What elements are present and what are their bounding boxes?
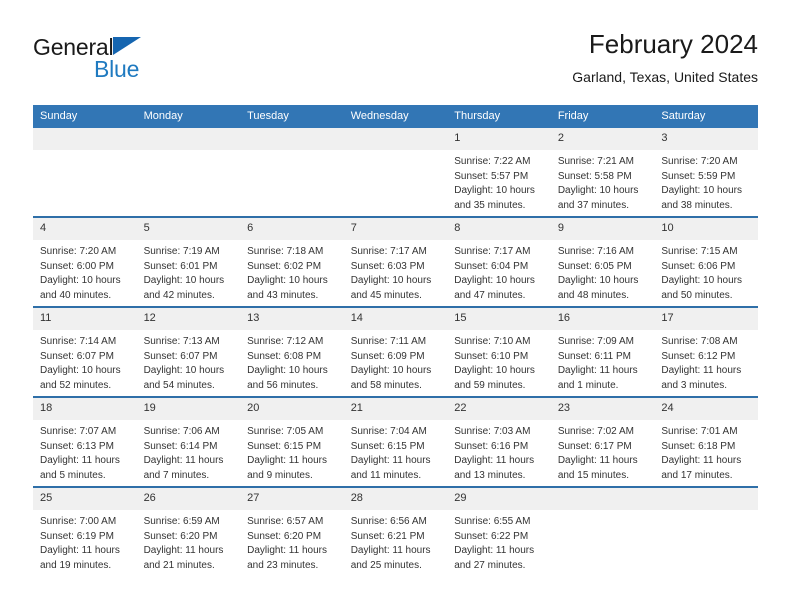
day-number: 1 — [447, 128, 551, 150]
sunrise-time: Sunrise: 6:55 AM — [454, 515, 545, 530]
daylight-duration-line-1: Daylight: 10 hours — [351, 274, 442, 289]
daylight-duration-line-1: Daylight: 10 hours — [454, 364, 545, 379]
sunset-time: Sunset: 5:59 PM — [661, 170, 752, 185]
day-details: Sunrise: 7:18 AMSunset: 6:02 PMDaylight:… — [240, 240, 344, 303]
daylight-duration-line-2: and 43 minutes. — [247, 289, 338, 304]
sunrise-time: Sunrise: 7:03 AM — [454, 425, 545, 440]
calendar-day-cell[interactable]: 5Sunrise: 7:19 AMSunset: 6:01 PMDaylight… — [137, 217, 241, 307]
day-number: 19 — [137, 398, 241, 420]
calendar-week-row: 11Sunrise: 7:14 AMSunset: 6:07 PMDayligh… — [33, 307, 758, 397]
calendar-day-cell[interactable]: 14Sunrise: 7:11 AMSunset: 6:09 PMDayligh… — [344, 307, 448, 397]
day-details: Sunrise: 6:56 AMSunset: 6:21 PMDaylight:… — [344, 510, 448, 573]
weekday-header-friday: Friday — [551, 105, 655, 128]
day-number: 6 — [240, 218, 344, 240]
day-number: 20 — [240, 398, 344, 420]
day-number: 10 — [654, 218, 758, 240]
daylight-duration-line-2: and 52 minutes. — [40, 379, 131, 394]
day-details — [654, 510, 758, 515]
daylight-duration-line-1: Daylight: 11 hours — [454, 544, 545, 559]
day-details — [344, 150, 448, 155]
sunrise-time: Sunrise: 7:09 AM — [558, 335, 649, 350]
weekday-header-saturday: Saturday — [654, 105, 758, 128]
calendar-day-cell[interactable]: 13Sunrise: 7:12 AMSunset: 6:08 PMDayligh… — [240, 307, 344, 397]
daylight-duration-line-2: and 1 minute. — [558, 379, 649, 394]
calendar-day-cell-empty — [344, 128, 448, 217]
sunset-time: Sunset: 6:07 PM — [40, 350, 131, 365]
daylight-duration-line-1: Daylight: 11 hours — [558, 364, 649, 379]
day-details: Sunrise: 7:16 AMSunset: 6:05 PMDaylight:… — [551, 240, 655, 303]
day-number: 13 — [240, 308, 344, 330]
daylight-duration-line-2: and 25 minutes. — [351, 559, 442, 574]
day-number: 21 — [344, 398, 448, 420]
daylight-duration-line-1: Daylight: 10 hours — [558, 184, 649, 199]
calendar-day-cell[interactable]: 6Sunrise: 7:18 AMSunset: 6:02 PMDaylight… — [240, 217, 344, 307]
day-details: Sunrise: 7:19 AMSunset: 6:01 PMDaylight:… — [137, 240, 241, 303]
sunset-time: Sunset: 6:02 PM — [247, 260, 338, 275]
daylight-duration-line-2: and 7 minutes. — [144, 469, 235, 484]
sunrise-time: Sunrise: 7:05 AM — [247, 425, 338, 440]
day-details: Sunrise: 7:17 AMSunset: 6:04 PMDaylight:… — [447, 240, 551, 303]
daylight-duration-line-1: Daylight: 11 hours — [661, 364, 752, 379]
day-details: Sunrise: 7:20 AMSunset: 5:59 PMDaylight:… — [654, 150, 758, 213]
calendar-day-cell[interactable]: 18Sunrise: 7:07 AMSunset: 6:13 PMDayligh… — [33, 397, 137, 487]
day-details: Sunrise: 7:20 AMSunset: 6:00 PMDaylight:… — [33, 240, 137, 303]
logo-text-blue: Blue — [94, 56, 139, 82]
day-number — [33, 128, 137, 150]
day-number: 17 — [654, 308, 758, 330]
sunrise-time: Sunrise: 6:57 AM — [247, 515, 338, 530]
weekday-header-row: Sunday Monday Tuesday Wednesday Thursday… — [33, 105, 758, 128]
daylight-duration-line-1: Daylight: 10 hours — [351, 364, 442, 379]
daylight-duration-line-1: Daylight: 11 hours — [144, 454, 235, 469]
calendar-day-cell[interactable]: 29Sunrise: 6:55 AMSunset: 6:22 PMDayligh… — [447, 487, 551, 576]
calendar-day-cell[interactable]: 26Sunrise: 6:59 AMSunset: 6:20 PMDayligh… — [137, 487, 241, 576]
calendar-day-cell-empty — [654, 487, 758, 576]
day-details: Sunrise: 7:03 AMSunset: 6:16 PMDaylight:… — [447, 420, 551, 483]
day-number: 23 — [551, 398, 655, 420]
daylight-duration-line-1: Daylight: 11 hours — [351, 454, 442, 469]
sunrise-sunset-calendar-table: Sunday Monday Tuesday Wednesday Thursday… — [33, 105, 758, 576]
day-details: Sunrise: 7:07 AMSunset: 6:13 PMDaylight:… — [33, 420, 137, 483]
day-details: Sunrise: 7:01 AMSunset: 6:18 PMDaylight:… — [654, 420, 758, 483]
calendar-day-cell[interactable]: 27Sunrise: 6:57 AMSunset: 6:20 PMDayligh… — [240, 487, 344, 576]
day-details: Sunrise: 7:04 AMSunset: 6:15 PMDaylight:… — [344, 420, 448, 483]
daylight-duration-line-2: and 19 minutes. — [40, 559, 131, 574]
sunset-time: Sunset: 6:04 PM — [454, 260, 545, 275]
calendar-day-cell[interactable]: 4Sunrise: 7:20 AMSunset: 6:00 PMDaylight… — [33, 217, 137, 307]
weekday-header-wednesday: Wednesday — [344, 105, 448, 128]
daylight-duration-line-2: and 58 minutes. — [351, 379, 442, 394]
calendar-day-cell[interactable]: 17Sunrise: 7:08 AMSunset: 6:12 PMDayligh… — [654, 307, 758, 397]
sunrise-time: Sunrise: 7:17 AM — [351, 245, 442, 260]
daylight-duration-line-2: and 42 minutes. — [144, 289, 235, 304]
calendar-page: General Blue February 2024 Garland, Texa… — [0, 0, 792, 612]
calendar-day-cell[interactable]: 10Sunrise: 7:15 AMSunset: 6:06 PMDayligh… — [654, 217, 758, 307]
calendar-day-cell-empty — [240, 128, 344, 217]
sunset-time: Sunset: 5:58 PM — [558, 170, 649, 185]
day-details: Sunrise: 7:00 AMSunset: 6:19 PMDaylight:… — [33, 510, 137, 573]
sunrise-time: Sunrise: 7:20 AM — [40, 245, 131, 260]
daylight-duration-line-2: and 11 minutes. — [351, 469, 442, 484]
daylight-duration-line-2: and 17 minutes. — [661, 469, 752, 484]
sunrise-time: Sunrise: 7:11 AM — [351, 335, 442, 350]
sunset-time: Sunset: 6:07 PM — [144, 350, 235, 365]
calendar-day-cell-empty — [33, 128, 137, 217]
day-number: 8 — [447, 218, 551, 240]
sunset-time: Sunset: 6:20 PM — [144, 530, 235, 545]
daylight-duration-line-2: and 5 minutes. — [40, 469, 131, 484]
daylight-duration-line-2: and 37 minutes. — [558, 199, 649, 214]
day-number — [551, 488, 655, 510]
day-number: 4 — [33, 218, 137, 240]
day-number: 16 — [551, 308, 655, 330]
sunset-time: Sunset: 6:10 PM — [454, 350, 545, 365]
sunrise-time: Sunrise: 7:19 AM — [144, 245, 235, 260]
day-number: 7 — [344, 218, 448, 240]
sunrise-time: Sunrise: 7:16 AM — [558, 245, 649, 260]
daylight-duration-line-2: and 40 minutes. — [40, 289, 131, 304]
day-details — [33, 150, 137, 155]
day-number: 27 — [240, 488, 344, 510]
calendar-week-row: 1Sunrise: 7:22 AMSunset: 5:57 PMDaylight… — [33, 128, 758, 217]
sunset-time: Sunset: 6:18 PM — [661, 440, 752, 455]
daylight-duration-line-2: and 21 minutes. — [144, 559, 235, 574]
calendar-day-cell[interactable]: 8Sunrise: 7:17 AMSunset: 6:04 PMDaylight… — [447, 217, 551, 307]
sunrise-time: Sunrise: 7:14 AM — [40, 335, 131, 350]
sunset-time: Sunset: 6:06 PM — [661, 260, 752, 275]
sunrise-time: Sunrise: 7:12 AM — [247, 335, 338, 350]
sunrise-time: Sunrise: 6:56 AM — [351, 515, 442, 530]
day-details: Sunrise: 7:21 AMSunset: 5:58 PMDaylight:… — [551, 150, 655, 213]
calendar-day-cell[interactable]: 19Sunrise: 7:06 AMSunset: 6:14 PMDayligh… — [137, 397, 241, 487]
sunset-time: Sunset: 6:15 PM — [351, 440, 442, 455]
sunset-time: Sunset: 6:20 PM — [247, 530, 338, 545]
sunset-time: Sunset: 6:09 PM — [351, 350, 442, 365]
calendar-head: Sunday Monday Tuesday Wednesday Thursday… — [33, 105, 758, 128]
sunrise-time: Sunrise: 7:17 AM — [454, 245, 545, 260]
logo-triangle-icon — [113, 37, 141, 55]
day-number: 29 — [447, 488, 551, 510]
calendar-week-row: 18Sunrise: 7:07 AMSunset: 6:13 PMDayligh… — [33, 397, 758, 487]
sunset-time: Sunset: 6:03 PM — [351, 260, 442, 275]
calendar-day-cell[interactable]: 22Sunrise: 7:03 AMSunset: 6:16 PMDayligh… — [447, 397, 551, 487]
daylight-duration-line-1: Daylight: 10 hours — [144, 364, 235, 379]
sunrise-time: Sunrise: 7:07 AM — [40, 425, 131, 440]
calendar-day-cell[interactable]: 21Sunrise: 7:04 AMSunset: 6:15 PMDayligh… — [344, 397, 448, 487]
weekday-header-monday: Monday — [137, 105, 241, 128]
day-details: Sunrise: 7:17 AMSunset: 6:03 PMDaylight:… — [344, 240, 448, 303]
day-number: 5 — [137, 218, 241, 240]
day-details: Sunrise: 6:57 AMSunset: 6:20 PMDaylight:… — [240, 510, 344, 573]
day-details: Sunrise: 7:13 AMSunset: 6:07 PMDaylight:… — [137, 330, 241, 393]
sunset-time: Sunset: 5:57 PM — [454, 170, 545, 185]
daylight-duration-line-2: and 54 minutes. — [144, 379, 235, 394]
page-title: February 2024 — [572, 28, 758, 60]
day-details: Sunrise: 7:05 AMSunset: 6:15 PMDaylight:… — [240, 420, 344, 483]
calendar-week-row: 4Sunrise: 7:20 AMSunset: 6:00 PMDaylight… — [33, 217, 758, 307]
calendar-body: 1Sunrise: 7:22 AMSunset: 5:57 PMDaylight… — [33, 128, 758, 576]
title-block: February 2024 Garland, Texas, United Sta… — [572, 28, 758, 86]
day-number — [654, 488, 758, 510]
daylight-duration-line-2: and 3 minutes. — [661, 379, 752, 394]
daylight-duration-line-2: and 9 minutes. — [247, 469, 338, 484]
calendar-day-cell[interactable]: 23Sunrise: 7:02 AMSunset: 6:17 PMDayligh… — [551, 397, 655, 487]
daylight-duration-line-2: and 13 minutes. — [454, 469, 545, 484]
day-number: 2 — [551, 128, 655, 150]
sunrise-time: Sunrise: 7:21 AM — [558, 155, 649, 170]
daylight-duration-line-1: Daylight: 10 hours — [661, 274, 752, 289]
sunset-time: Sunset: 6:14 PM — [144, 440, 235, 455]
calendar-day-cell[interactable]: 15Sunrise: 7:10 AMSunset: 6:10 PMDayligh… — [447, 307, 551, 397]
day-details — [240, 150, 344, 155]
sunrise-time: Sunrise: 7:00 AM — [40, 515, 131, 530]
daylight-duration-line-1: Daylight: 11 hours — [40, 454, 131, 469]
sunset-time: Sunset: 6:15 PM — [247, 440, 338, 455]
sunset-time: Sunset: 6:08 PM — [247, 350, 338, 365]
day-details: Sunrise: 7:22 AMSunset: 5:57 PMDaylight:… — [447, 150, 551, 213]
weekday-header-thursday: Thursday — [447, 105, 551, 128]
day-number — [240, 128, 344, 150]
day-details: Sunrise: 6:55 AMSunset: 6:22 PMDaylight:… — [447, 510, 551, 573]
sunset-time: Sunset: 6:17 PM — [558, 440, 649, 455]
calendar-day-cell[interactable]: 12Sunrise: 7:13 AMSunset: 6:07 PMDayligh… — [137, 307, 241, 397]
sunrise-time: Sunrise: 7:13 AM — [144, 335, 235, 350]
daylight-duration-line-2: and 50 minutes. — [661, 289, 752, 304]
sunrise-time: Sunrise: 7:08 AM — [661, 335, 752, 350]
day-details: Sunrise: 7:15 AMSunset: 6:06 PMDaylight:… — [654, 240, 758, 303]
sunset-time: Sunset: 6:01 PM — [144, 260, 235, 275]
day-details: Sunrise: 6:59 AMSunset: 6:20 PMDaylight:… — [137, 510, 241, 573]
sunrise-time: Sunrise: 7:20 AM — [661, 155, 752, 170]
day-number: 22 — [447, 398, 551, 420]
daylight-duration-line-2: and 48 minutes. — [558, 289, 649, 304]
daylight-duration-line-1: Daylight: 10 hours — [144, 274, 235, 289]
calendar-day-cell[interactable]: 3Sunrise: 7:20 AMSunset: 5:59 PMDaylight… — [654, 128, 758, 217]
day-details — [137, 150, 241, 155]
sunset-time: Sunset: 6:12 PM — [661, 350, 752, 365]
day-details: Sunrise: 7:12 AMSunset: 6:08 PMDaylight:… — [240, 330, 344, 393]
daylight-duration-line-1: Daylight: 10 hours — [661, 184, 752, 199]
page-subtitle-location: Garland, Texas, United States — [572, 69, 758, 86]
daylight-duration-line-1: Daylight: 11 hours — [351, 544, 442, 559]
weekday-header-sunday: Sunday — [33, 105, 137, 128]
calendar-day-cell[interactable]: 7Sunrise: 7:17 AMSunset: 6:03 PMDaylight… — [344, 217, 448, 307]
sunrise-time: Sunrise: 7:18 AM — [247, 245, 338, 260]
day-details: Sunrise: 7:11 AMSunset: 6:09 PMDaylight:… — [344, 330, 448, 393]
calendar-day-cell[interactable]: 25Sunrise: 7:00 AMSunset: 6:19 PMDayligh… — [33, 487, 137, 576]
daylight-duration-line-1: Daylight: 10 hours — [247, 364, 338, 379]
daylight-duration-line-1: Daylight: 10 hours — [454, 274, 545, 289]
day-number: 18 — [33, 398, 137, 420]
day-details: Sunrise: 7:14 AMSunset: 6:07 PMDaylight:… — [33, 330, 137, 393]
day-details: Sunrise: 7:08 AMSunset: 6:12 PMDaylight:… — [654, 330, 758, 393]
daylight-duration-line-1: Daylight: 11 hours — [144, 544, 235, 559]
day-number: 28 — [344, 488, 448, 510]
sunrise-time: Sunrise: 7:10 AM — [454, 335, 545, 350]
daylight-duration-line-2: and 59 minutes. — [454, 379, 545, 394]
calendar-day-cell[interactable]: 11Sunrise: 7:14 AMSunset: 6:07 PMDayligh… — [33, 307, 137, 397]
day-number: 3 — [654, 128, 758, 150]
day-details: Sunrise: 7:10 AMSunset: 6:10 PMDaylight:… — [447, 330, 551, 393]
sunset-time: Sunset: 6:13 PM — [40, 440, 131, 455]
calendar-day-cell[interactable]: 1Sunrise: 7:22 AMSunset: 5:57 PMDaylight… — [447, 128, 551, 217]
sunset-time: Sunset: 6:00 PM — [40, 260, 131, 275]
daylight-duration-line-2: and 45 minutes. — [351, 289, 442, 304]
calendar-day-cell-empty — [551, 487, 655, 576]
sunset-time: Sunset: 6:22 PM — [454, 530, 545, 545]
sunset-time: Sunset: 6:11 PM — [558, 350, 649, 365]
calendar-day-cell-empty — [137, 128, 241, 217]
day-number: 26 — [137, 488, 241, 510]
day-number — [137, 128, 241, 150]
sunset-time: Sunset: 6:19 PM — [40, 530, 131, 545]
calendar-day-cell[interactable]: 16Sunrise: 7:09 AMSunset: 6:11 PMDayligh… — [551, 307, 655, 397]
day-number: 9 — [551, 218, 655, 240]
daylight-duration-line-2: and 23 minutes. — [247, 559, 338, 574]
day-number: 14 — [344, 308, 448, 330]
daylight-duration-line-2: and 35 minutes. — [454, 199, 545, 214]
sunrise-time: Sunrise: 7:04 AM — [351, 425, 442, 440]
daylight-duration-line-1: Daylight: 10 hours — [247, 274, 338, 289]
daylight-duration-line-2: and 38 minutes. — [661, 199, 752, 214]
sunrise-time: Sunrise: 6:59 AM — [144, 515, 235, 530]
daylight-duration-line-1: Daylight: 11 hours — [40, 544, 131, 559]
sunrise-time: Sunrise: 7:15 AM — [661, 245, 752, 260]
calendar-day-cell[interactable]: 28Sunrise: 6:56 AMSunset: 6:21 PMDayligh… — [344, 487, 448, 576]
sunrise-time: Sunrise: 7:02 AM — [558, 425, 649, 440]
sunrise-time: Sunrise: 7:06 AM — [144, 425, 235, 440]
page-header: General Blue February 2024 Garland, Texa… — [33, 28, 758, 100]
calendar-day-cell[interactable]: 20Sunrise: 7:05 AMSunset: 6:15 PMDayligh… — [240, 397, 344, 487]
daylight-duration-line-1: Daylight: 10 hours — [558, 274, 649, 289]
calendar-day-cell[interactable]: 24Sunrise: 7:01 AMSunset: 6:18 PMDayligh… — [654, 397, 758, 487]
daylight-duration-line-2: and 15 minutes. — [558, 469, 649, 484]
day-details: Sunrise: 7:06 AMSunset: 6:14 PMDaylight:… — [137, 420, 241, 483]
day-number — [344, 128, 448, 150]
day-details: Sunrise: 7:09 AMSunset: 6:11 PMDaylight:… — [551, 330, 655, 393]
day-number: 25 — [33, 488, 137, 510]
daylight-duration-line-1: Daylight: 11 hours — [247, 544, 338, 559]
daylight-duration-line-2: and 27 minutes. — [454, 559, 545, 574]
daylight-duration-line-1: Daylight: 11 hours — [661, 454, 752, 469]
day-details — [551, 510, 655, 515]
general-blue-logo[interactable]: General Blue — [33, 34, 233, 92]
daylight-duration-line-1: Daylight: 10 hours — [454, 184, 545, 199]
daylight-duration-line-2: and 56 minutes. — [247, 379, 338, 394]
daylight-duration-line-2: and 47 minutes. — [454, 289, 545, 304]
day-number: 11 — [33, 308, 137, 330]
day-number: 15 — [447, 308, 551, 330]
sunset-time: Sunset: 6:21 PM — [351, 530, 442, 545]
sunrise-time: Sunrise: 7:01 AM — [661, 425, 752, 440]
daylight-duration-line-1: Daylight: 10 hours — [40, 364, 131, 379]
sunset-time: Sunset: 6:16 PM — [454, 440, 545, 455]
calendar-day-cell[interactable]: 2Sunrise: 7:21 AMSunset: 5:58 PMDaylight… — [551, 128, 655, 217]
weekday-header-tuesday: Tuesday — [240, 105, 344, 128]
daylight-duration-line-1: Daylight: 11 hours — [454, 454, 545, 469]
day-number: 12 — [137, 308, 241, 330]
sunset-time: Sunset: 6:05 PM — [558, 260, 649, 275]
day-details: Sunrise: 7:02 AMSunset: 6:17 PMDaylight:… — [551, 420, 655, 483]
daylight-duration-line-1: Daylight: 11 hours — [558, 454, 649, 469]
sunrise-time: Sunrise: 7:22 AM — [454, 155, 545, 170]
daylight-duration-line-1: Daylight: 11 hours — [247, 454, 338, 469]
calendar-week-row: 25Sunrise: 7:00 AMSunset: 6:19 PMDayligh… — [33, 487, 758, 576]
day-number: 24 — [654, 398, 758, 420]
daylight-duration-line-1: Daylight: 10 hours — [40, 274, 131, 289]
calendar-day-cell[interactable]: 9Sunrise: 7:16 AMSunset: 6:05 PMDaylight… — [551, 217, 655, 307]
